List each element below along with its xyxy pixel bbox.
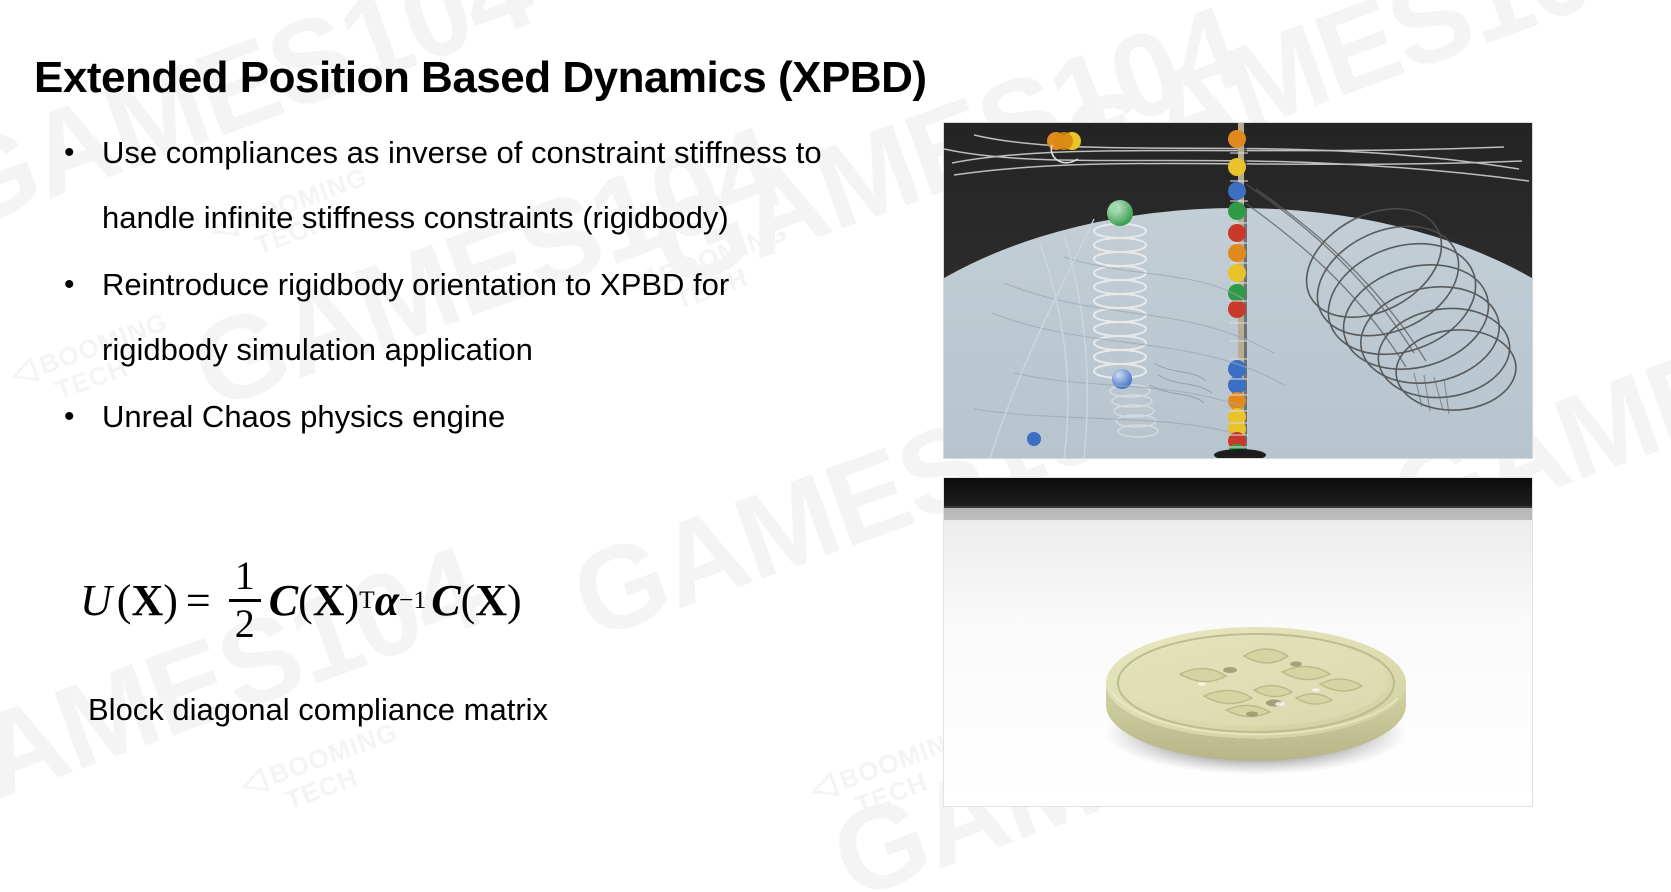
list-item: • Unreal Chaos physics engine	[56, 384, 846, 449]
page-title: Extended Position Based Dynamics (XPBD)	[34, 53, 927, 103]
bullet-marker-icon: •	[56, 384, 102, 449]
formula-alpha-symbol: α	[375, 575, 399, 626]
bullet-text: Reintroduce rigidbody orientation to XPB…	[102, 252, 846, 382]
formula-lhs-variable: X	[131, 575, 163, 626]
xpbd-simulation-springs-image	[943, 122, 1533, 459]
slide-content: Extended Position Based Dynamics (XPBD) …	[0, 0, 1671, 892]
formula-open-paren: (	[117, 575, 132, 626]
formula-close-paren: )	[345, 575, 360, 626]
bullet-text: Unreal Chaos physics engine	[102, 384, 846, 449]
formula-constraint-symbol: C	[269, 575, 298, 626]
formula-lhs-function: U	[80, 575, 112, 626]
rigidbody-disc-render	[944, 478, 1532, 806]
bullet-text: Use compliances as inverse of constraint…	[102, 120, 846, 250]
formula-constraint-variable: X	[313, 575, 345, 626]
fraction-numerator: 1	[229, 556, 261, 599]
formula-close-paren: )	[507, 575, 522, 626]
formula-open-paren: (	[298, 575, 313, 626]
formula-open-paren: (	[461, 575, 476, 626]
formula-constraint-variable: X	[475, 575, 507, 626]
bullet-marker-icon: •	[56, 120, 102, 185]
list-item: • Reintroduce rigidbody orientation to X…	[56, 252, 846, 382]
bullet-marker-icon: •	[56, 252, 102, 317]
fraction-denominator: 2	[229, 602, 261, 644]
formula-caption: Block diagonal compliance matrix	[88, 692, 548, 728]
green-bead	[1107, 200, 1133, 226]
springs-simulation-render	[944, 123, 1532, 458]
formula-close-paren: )	[163, 575, 178, 626]
formula-constraint-symbol: C	[431, 575, 460, 626]
formula-one-half: 1 2	[229, 556, 261, 644]
small-blue-bead	[1027, 432, 1041, 446]
list-item: • Use compliances as inverse of constrai…	[56, 120, 846, 250]
energy-formula: U(X) = 1 2 C(X)Tα−1C(X)	[80, 556, 522, 644]
bullet-list: • Use compliances as inverse of constrai…	[56, 120, 846, 451]
formula-equals: =	[186, 575, 211, 626]
xpbd-rigidbody-disc-image	[943, 477, 1533, 807]
